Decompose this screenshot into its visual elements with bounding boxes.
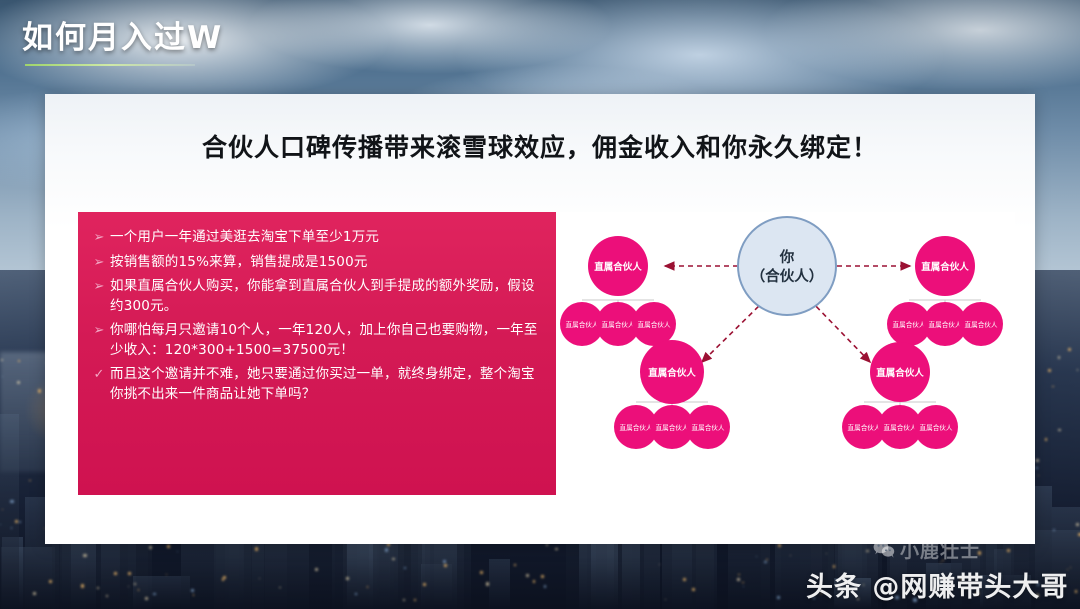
- leaf-label: 直属合伙人: [920, 423, 953, 432]
- link-center-to-right-bottom: [810, 300, 870, 362]
- leaf-label: 直属合伙人: [656, 423, 689, 432]
- branch-label: 直属合伙人: [921, 261, 969, 273]
- leaf-label: 直属合伙人: [692, 423, 725, 432]
- branch-label: 直属合伙人: [648, 367, 696, 379]
- link-center-to-left-bottom: [702, 300, 765, 362]
- leaf-label: 直属合伙人: [884, 423, 917, 432]
- center-node-label-line2: （合伙人）: [751, 267, 824, 285]
- leaf-label: 直属合伙人: [893, 320, 926, 329]
- bullet-marker-icon: ➢: [88, 253, 110, 272]
- partner-network-diagram: 你 （合伙人） 直属合伙人 直属合伙人 直属合伙人 直属合伙人: [560, 212, 1015, 495]
- bullet-item: ➢ 一个用户一年通过美逛去淘宝下单至少1万元: [88, 228, 542, 248]
- bullet-marker-icon: ➢: [88, 228, 110, 247]
- diagram-node-leaf[interactable]: 直属合伙人: [632, 302, 676, 346]
- bullet-item: ✓ 而且这个邀请并不难，她只要通过你买过一单，就终身绑定，整个淘宝你挑不出来一件…: [88, 365, 542, 404]
- bullet-marker-icon: ✓: [88, 365, 110, 384]
- bullet-text: 你哪怕每月只邀请10个人，一年120人，加上你自己也要购物，一年至少收入：120…: [110, 321, 542, 360]
- bullet-item: ➢ 你哪怕每月只邀请10个人，一年120人，加上你自己也要购物，一年至少收入：1…: [88, 321, 542, 360]
- diagram-node-branch-right-bottom[interactable]: 直属合伙人: [870, 342, 930, 402]
- bullet-text: 按销售额的15%来算，销售提成是1500元: [110, 253, 542, 273]
- diagram-node-leaf[interactable]: 直属合伙人: [686, 405, 730, 449]
- red-bullet-panel: ➢ 一个用户一年通过美逛去淘宝下单至少1万元 ➢ 按销售额的15%来算，销售提成…: [78, 212, 556, 495]
- diagram-node-branch-left-bottom[interactable]: 直属合伙人: [640, 340, 704, 404]
- title-underline: [25, 64, 195, 66]
- bullet-text: 一个用户一年通过美逛去淘宝下单至少1万元: [110, 228, 542, 248]
- branch-label: 直属合伙人: [876, 367, 924, 379]
- bullet-item: ➢ 如果直属合伙人购买，你能拿到直属合伙人到手提成的额外奖励，假设约300元。: [88, 277, 542, 316]
- diagram-node-branch-right-top[interactable]: 直属合伙人: [915, 236, 975, 296]
- diagram-node-leaf[interactable]: 直属合伙人: [914, 405, 958, 449]
- wechat-icon: [873, 540, 895, 559]
- leaf-label: 直属合伙人: [965, 320, 998, 329]
- leaf-label: 直属合伙人: [620, 423, 653, 432]
- leaf-label: 直属合伙人: [638, 320, 671, 329]
- bullet-text: 如果直属合伙人购买，你能拿到直属合伙人到手提成的额外奖励，假设约300元。: [110, 277, 542, 316]
- bullet-text: 而且这个邀请并不难，她只要通过你买过一单，就终身绑定，整个淘宝你挑不出来一件商品…: [110, 365, 542, 404]
- branch-label: 直属合伙人: [594, 261, 642, 273]
- leaf-label: 直属合伙人: [848, 423, 881, 432]
- diagram-node-center[interactable]: 你 （合伙人）: [738, 217, 836, 315]
- leaf-label: 直属合伙人: [566, 320, 599, 329]
- content-card: 合伙人口碑传播带来滚雪球效应，佣金收入和你永久绑定！ ➢ 一个用户一年通过美逛去…: [45, 94, 1035, 544]
- bullet-marker-icon: ➢: [88, 277, 110, 296]
- toutiao-watermark: 头条 @网赚带头大哥: [806, 565, 1068, 604]
- wechat-watermark: 小鹿壮士: [873, 536, 980, 563]
- card-headline: 合伙人口碑传播带来滚雪球效应，佣金收入和你永久绑定！: [45, 128, 1035, 164]
- wechat-watermark-text: 小鹿壮士: [900, 536, 980, 563]
- leaf-label: 直属合伙人: [602, 320, 635, 329]
- diagram-node-branch-left-top[interactable]: 直属合伙人: [588, 236, 648, 296]
- page-title: 如何月入过W: [22, 12, 223, 57]
- bullet-item: ➢ 按销售额的15%来算，销售提成是1500元: [88, 253, 542, 273]
- leaf-label: 直属合伙人: [929, 320, 962, 329]
- diagram-node-leaf[interactable]: 直属合伙人: [959, 302, 1003, 346]
- bullet-marker-icon: ➢: [88, 321, 110, 340]
- center-node-label-line1: 你: [779, 248, 795, 266]
